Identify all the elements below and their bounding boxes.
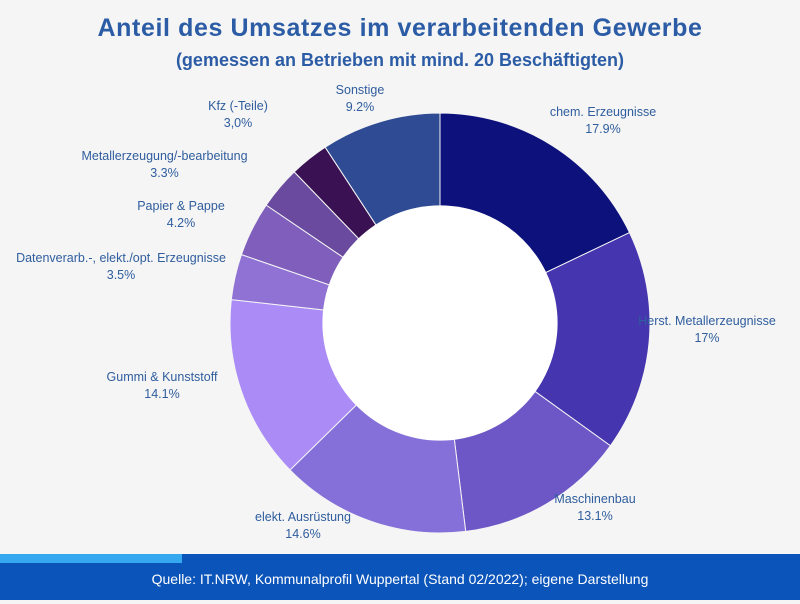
slice-label-metallerzeugung-name: Metallerzeugung/-bearbeitung xyxy=(52,148,277,165)
slice-label-sonstige: Sonstige 9.2% xyxy=(300,82,420,115)
slice-label-papier-name: Papier & Pappe xyxy=(86,198,276,215)
slice-label-datenverarbeitung-name: Datenverarb.-, elekt./opt. Erzeugnisse xyxy=(0,250,242,267)
slice-label-kfz-name: Kfz (-Teile) xyxy=(168,98,308,115)
slide-canvas: Anteil des Umsatzes im verarbeitenden Ge… xyxy=(0,0,800,600)
slice-label-gummi-kunststoff-name: Gummi & Kunststoff xyxy=(62,369,262,386)
source-note: Quelle: IT.NRW, Kommunalprofil Wuppertal… xyxy=(0,554,800,600)
slice-label-kfz-value: 3,0% xyxy=(168,115,308,132)
slice-label-metallerzeugung: Metallerzeugung/-bearbeitung 3.3% xyxy=(52,148,277,181)
slice-label-herst-metallerzeugnisse-name: Herst. Metallerzeugnisse xyxy=(612,313,800,330)
slice-label-sonstige-value: 9.2% xyxy=(300,99,420,116)
slice-label-chem-erzeugnisse-name: chem. Erzeugnisse xyxy=(508,104,698,121)
slice-label-gummi-kunststoff: Gummi & Kunststoff 14.1% xyxy=(62,369,262,402)
slice-label-kfz: Kfz (-Teile) 3,0% xyxy=(168,98,308,131)
slice-label-papier-value: 4.2% xyxy=(86,215,276,232)
slice-label-chem-erzeugnisse-value: 17.9% xyxy=(508,121,698,138)
slice-label-elektrische-ausruestung-value: 14.6% xyxy=(208,526,398,543)
slice-label-maschinenbau: Maschinenbau 13.1% xyxy=(500,491,690,524)
slice-label-maschinenbau-value: 13.1% xyxy=(500,508,690,525)
slice-label-elektrische-ausruestung: elekt. Ausrüstung 14.6% xyxy=(208,509,398,542)
slice-label-herst-metallerzeugnisse: Herst. Metallerzeugnisse 17% xyxy=(612,313,800,346)
slice-label-maschinenbau-name: Maschinenbau xyxy=(500,491,690,508)
slice-label-datenverarbeitung: Datenverarb.-, elekt./opt. Erzeugnisse 3… xyxy=(0,250,242,283)
slice-label-chem-erzeugnisse: chem. Erzeugnisse 17.9% xyxy=(508,104,698,137)
slice-label-sonstige-name: Sonstige xyxy=(300,82,420,99)
slice-label-herst-metallerzeugnisse-value: 17% xyxy=(612,330,800,347)
slice-label-metallerzeugung-value: 3.3% xyxy=(52,165,277,182)
donut-hole xyxy=(322,205,557,440)
slice-label-datenverarbeitung-value: 3.5% xyxy=(0,267,242,284)
footer-bar: Quelle: IT.NRW, Kommunalprofil Wuppertal… xyxy=(0,554,800,600)
slice-label-gummi-kunststoff-value: 14.1% xyxy=(62,386,262,403)
slice-label-elektrische-ausruestung-name: elekt. Ausrüstung xyxy=(208,509,398,526)
slice-label-papier: Papier & Pappe 4.2% xyxy=(86,198,276,231)
